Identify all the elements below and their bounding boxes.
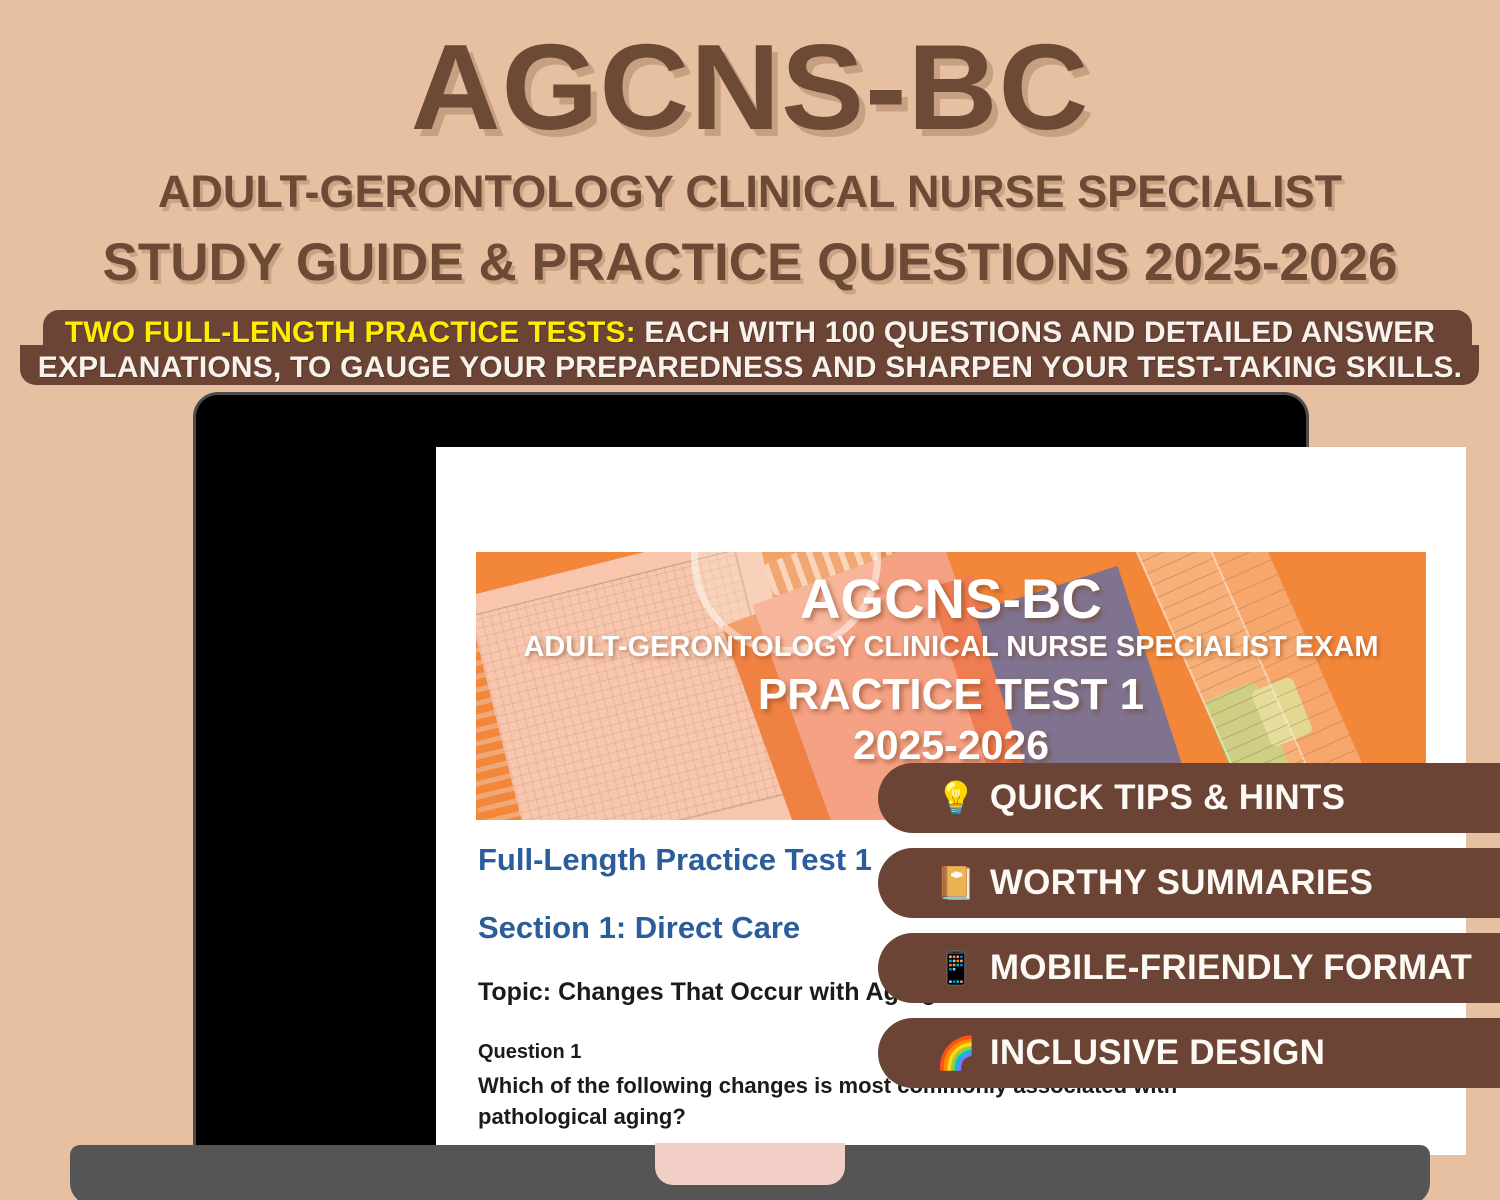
rainbow-icon: 🌈 [936,1037,976,1069]
page-subtitle-credential: ADULT-GERONTOLOGY CLINICAL NURSE SPECIAL… [0,166,1500,218]
feature-badge-label: MOBILE-FRIENDLY FORMAT [990,948,1472,988]
promo-banner-line-1: TWO FULL-LENGTH PRACTICE TESTS: EACH WIT… [0,316,1500,350]
feature-badge-label: INCLUSIVE DESIGN [990,1033,1325,1073]
page-subtitle-product: STUDY GUIDE & PRACTICE QUESTIONS 2025-20… [0,232,1500,293]
feature-badge-worthy-summaries: 📔 WORTHY SUMMARIES [878,848,1500,918]
cover-test-label: PRACTICE TEST 1 [476,670,1426,720]
promo-banner: TWO FULL-LENGTH PRACTICE TESTS: EACH WIT… [0,311,1500,383]
mobile-phone-icon: 📱 [936,952,976,984]
feature-badge-label: QUICK TIPS & HINTS [990,778,1345,818]
page-title: AGCNS-BC [0,26,1500,148]
promo-banner-line-1-rest: EACH WITH 100 QUESTIONS AND DETAILED ANS… [636,316,1435,349]
cover-years: 2025-2026 [476,722,1426,769]
laptop-hinge-notch [655,1143,845,1185]
feature-badge-quick-tips: 💡 QUICK TIPS & HINTS [878,763,1500,833]
cover-title: AGCNS-BC [476,570,1426,629]
light-bulb-icon: 💡 [936,782,976,814]
promo-banner-highlight: TWO FULL-LENGTH PRACTICE TESTS: [65,316,636,349]
feature-badge-label: WORTHY SUMMARIES [990,863,1373,903]
feature-badge-mobile-friendly: 📱 MOBILE-FRIENDLY FORMAT [878,933,1500,1003]
promo-banner-line-2: EXPLANATIONS, TO GAUGE YOUR PREPAREDNESS… [0,351,1500,385]
promo-poster: AGCNS-BC ADULT-GERONTOLOGY CLINICAL NURS… [0,0,1500,1200]
feature-badge-list: 💡 QUICK TIPS & HINTS 📔 WORTHY SUMMARIES … [878,763,1500,1103]
feature-badge-inclusive-design: 🌈 INCLUSIVE DESIGN [878,1018,1500,1088]
headline-block: AGCNS-BC ADULT-GERONTOLOGY CLINICAL NURS… [0,26,1500,293]
closed-book-icon: 📔 [936,867,976,899]
cover-subtitle: ADULT-GERONTOLOGY CLINICAL NURSE SPECIAL… [476,631,1426,664]
